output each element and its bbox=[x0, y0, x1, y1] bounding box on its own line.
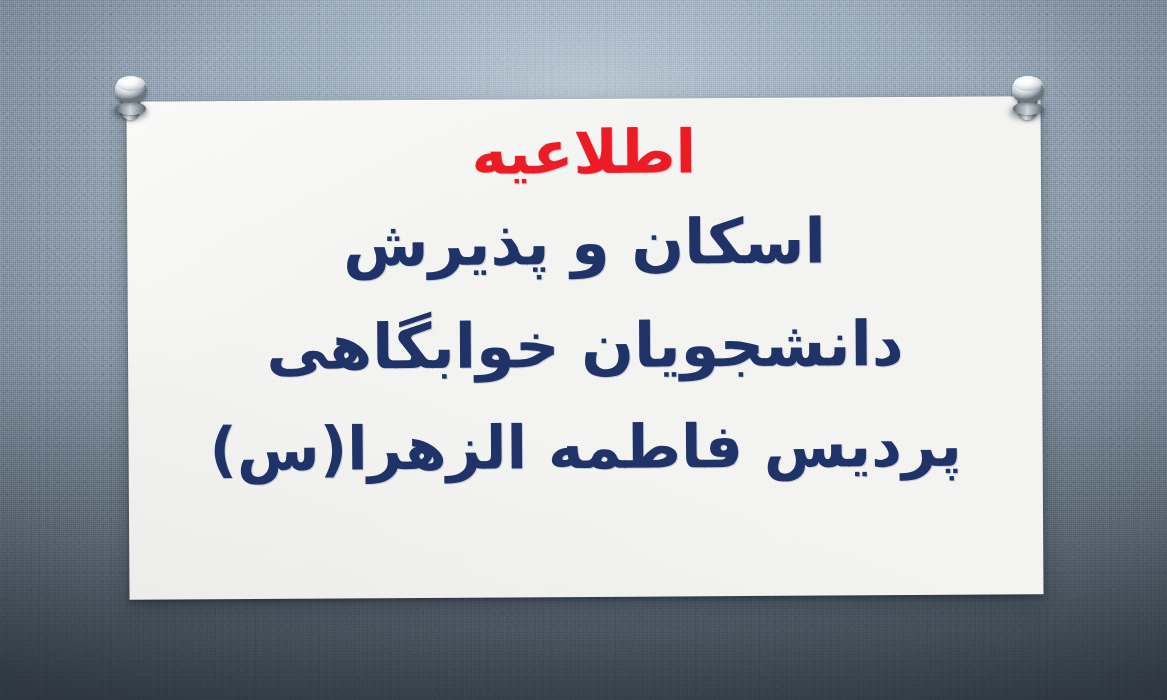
notice-headline: اطلاعیه bbox=[471, 122, 696, 185]
pushpin-icon-left[interactable] bbox=[108, 74, 154, 126]
pushpin-collar bbox=[1013, 102, 1043, 115]
notice-text-block: اطلاعیه اسکان و پذیرش دانشجویان خوابگاهی… bbox=[126, 96, 1043, 600]
notice-line-3: پردیس فاطمه الزهرا(س) bbox=[209, 414, 962, 483]
notice-paper: اطلاعیه اسکان و پذیرش دانشجویان خوابگاهی… bbox=[126, 96, 1043, 600]
pushpin-cap-highlight bbox=[1014, 76, 1042, 91]
pushpin-icon-right[interactable] bbox=[1005, 74, 1051, 126]
notice-poster-canvas: اطلاعیه اسکان و پذیرش دانشجویان خوابگاهی… bbox=[0, 0, 1167, 700]
pushpin-collar bbox=[116, 102, 146, 115]
notice-line-1: اسکان و پذیرش bbox=[343, 209, 826, 279]
notice-line-2: دانشجویان خوابگاهی bbox=[266, 311, 904, 382]
pushpin-cap-highlight bbox=[117, 76, 145, 91]
